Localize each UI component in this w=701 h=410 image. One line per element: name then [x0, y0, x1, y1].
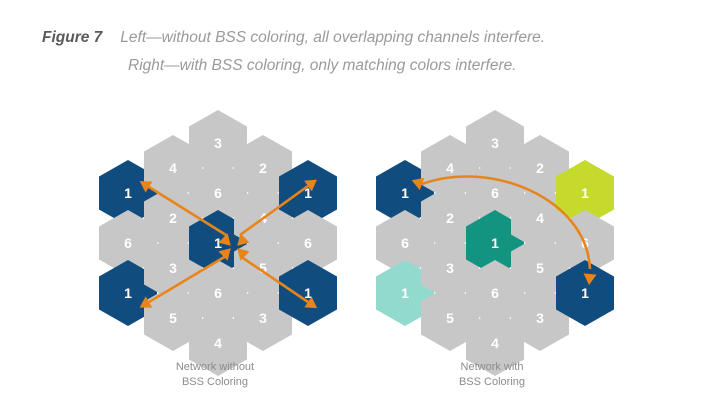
hex-cell-label: 1: [304, 186, 312, 200]
cluster-caption-left-line-2: BSS Coloring: [95, 375, 335, 390]
hex-cell-label: 3: [491, 136, 499, 150]
hex-cell-label: 5: [259, 261, 267, 275]
hex-cell-label: 3: [259, 311, 267, 325]
hex-cell-label: 5: [446, 311, 454, 325]
figure-number-label: Figure 7: [42, 29, 102, 46]
hex-cell-label: 4: [491, 336, 499, 350]
hex-cell-label: 4: [259, 211, 267, 225]
cluster-caption-left: Network without BSS Coloring: [95, 360, 335, 390]
hex-cell-label: 6: [214, 286, 222, 300]
hex-cell-label: 2: [536, 161, 544, 175]
hex-cell-label: 1: [304, 286, 312, 300]
hex-cell-label: 1: [124, 286, 132, 300]
hex-cell-label: 6: [304, 236, 312, 250]
hex-cell-label: 4: [169, 161, 177, 175]
figure-caption-line-1: Figure 7Left—without BSS coloring, all o…: [0, 24, 701, 52]
diagram-area: 1614235361642453161 Network without BSS …: [0, 104, 701, 410]
cluster-caption-right: Network with BSS Coloring: [372, 360, 612, 390]
hex-cell-label: 3: [214, 136, 222, 150]
hex-cell-label: 5: [536, 261, 544, 275]
hex-cell-label: 6: [581, 236, 589, 250]
hex-cell-label: 6: [491, 286, 499, 300]
figure-caption-text-line-2: Right—with BSS coloring, only matching c…: [128, 57, 517, 74]
hex-cell-label: 6: [401, 236, 409, 250]
hex-cell-label: 6: [491, 186, 499, 200]
hex-cell-label: 3: [446, 261, 454, 275]
hex-cell-label: 1: [491, 236, 499, 250]
hex-cell-label: 6: [214, 186, 222, 200]
hex-cell-label: 3: [536, 311, 544, 325]
hex-cell-label: 1: [401, 186, 409, 200]
hex-cell-label: 1: [581, 286, 589, 300]
hex-grid-right: 1614235361642453161: [372, 104, 612, 364]
hex-cell-label: 1: [401, 286, 409, 300]
hex-cell-label: 1: [214, 236, 222, 250]
hex-grid-left: 1614235361642453161: [95, 104, 335, 364]
hex-cell-label: 1: [581, 186, 589, 200]
cluster-network-with-bss-coloring: 1614235361642453161 Network with BSS Col…: [372, 104, 612, 410]
hex-cell-label: 4: [536, 211, 544, 225]
figure-caption-line-2: Right—with BSS coloring, only matching c…: [0, 52, 701, 80]
hex-cell-label: 2: [259, 161, 267, 175]
hex-cell-label: 4: [214, 336, 222, 350]
cluster-caption-right-line-1: Network with: [372, 360, 612, 375]
cluster-network-without-bss-coloring: 1614235361642453161 Network without BSS …: [95, 104, 335, 410]
hex-cell-label: 4: [446, 161, 454, 175]
cluster-caption-right-line-2: BSS Coloring: [372, 375, 612, 390]
hex-cell-label: 6: [124, 236, 132, 250]
hex-cell-label: 1: [124, 186, 132, 200]
figure-caption-block: Figure 7Left—without BSS coloring, all o…: [0, 24, 701, 80]
hex-cell-label: 2: [446, 211, 454, 225]
hex-cell-label: 2: [169, 211, 177, 225]
figure-caption-text-line-1: Left—without BSS coloring, all overlappi…: [120, 29, 545, 46]
hex-cell-label: 5: [169, 311, 177, 325]
hex-cell-label: 3: [169, 261, 177, 275]
cluster-caption-left-line-1: Network without: [95, 360, 335, 375]
